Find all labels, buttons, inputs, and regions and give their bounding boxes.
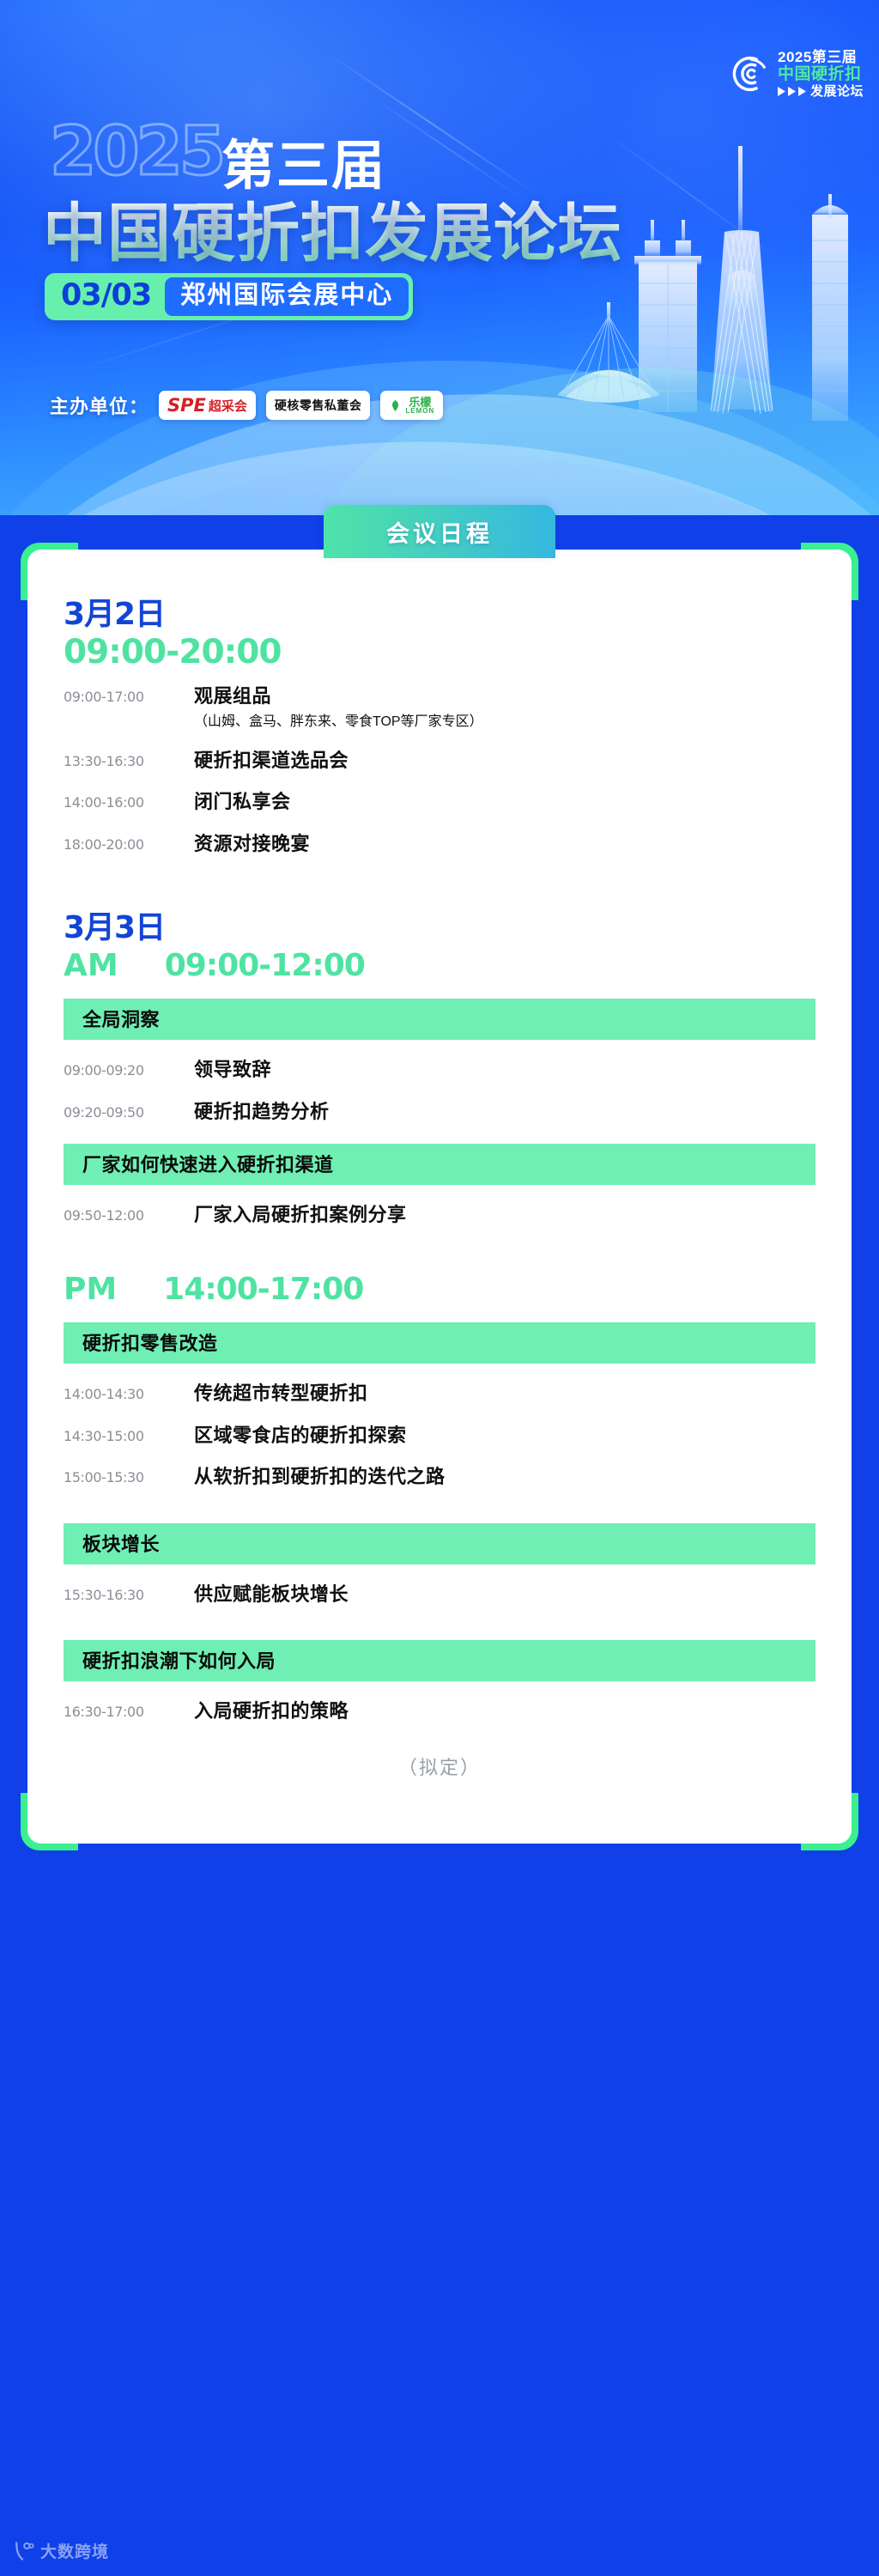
schedule-row: 09:50-12:00 厂家入局硬折扣案例分享 [64, 1190, 815, 1232]
page-title: 中国硬折扣发展论坛 [43, 182, 622, 274]
schedule-tab-label: 会议日程 [386, 515, 493, 549]
row-title: 硬折扣渠道选品会 [194, 749, 349, 774]
schedule-row: 14:30-15:00 区域零食店的硬折扣探索 [64, 1411, 815, 1453]
half-label-pm: PM [64, 1272, 117, 1307]
date-venue-badge: 03/03 郑州国际会展中心 [45, 273, 413, 320]
row-subtitle: （山姆、盒马、胖东来、零食TOP等厂家专区） [194, 714, 483, 732]
row-time: 18:00-20:00 [64, 832, 194, 853]
organizers-label: 主办单位： [50, 392, 149, 419]
row-time: 14:30-15:00 [64, 1424, 194, 1444]
schedule-row: 15:30-16:30 供应赋能板块增长 [64, 1570, 815, 1612]
logo-line-2: 中国硬折扣 [778, 66, 864, 82]
row-title: 区域零食店的硬折扣探索 [194, 1424, 407, 1449]
section-bar: 硬折扣零售改造 [64, 1322, 815, 1364]
hardcore-retail-label: 硬核零售私董会 [275, 397, 362, 414]
spe-mark: SPE [167, 395, 206, 416]
lemon-label-en: LEMON [405, 408, 434, 415]
section-bar: 厂家如何快速进入硬折扣渠道 [64, 1144, 815, 1185]
watermark: 大数跨境 [12, 2539, 109, 2562]
watermark-text: 大数跨境 [40, 2539, 109, 2562]
schedule-row: 14:00-14:30 传统超市转型硬折扣 [64, 1369, 815, 1411]
row-time: 15:00-15:30 [64, 1465, 194, 1485]
row-title: 传统超市转型硬折扣 [194, 1382, 368, 1406]
section-bar: 硬折扣浪潮下如何入局 [64, 1640, 815, 1681]
row-title-block: 观展组品 （山姆、盒马、胖东来、零食TOP等厂家专区） [194, 684, 483, 731]
section-bar: 全局洞察 [64, 999, 815, 1040]
day-date-mar2: 3月2日 [64, 598, 815, 632]
year-ghost-text: 2025 [50, 113, 222, 191]
logo-line-1: 2025第三届 [778, 50, 864, 64]
row-title: 入局硬折扣的策略 [194, 1699, 349, 1724]
schedule-row: 09:00-17:00 观展组品 （山姆、盒马、胖东来、零食TOP等厂家专区） [64, 671, 815, 735]
row-time: 14:00-14:30 [64, 1382, 194, 1402]
c-circle-logo-icon [731, 54, 771, 94]
half-header-pm: PM 14:00-17:00 [64, 1272, 815, 1307]
section-bar: 板块增长 [64, 1523, 815, 1564]
row-title: 观展组品 [194, 685, 271, 707]
half-label-am: AM [64, 948, 118, 983]
organizer-logo-spe: SPE 超采会 [159, 391, 256, 420]
logo-line-3: 发展论坛 [810, 85, 864, 98]
schedule-section: 会议日程 3月2日 09:00-20:00 09:00-17:00 观展组品 （… [27, 550, 852, 1844]
row-time: 14:00-16:00 [64, 790, 194, 811]
organizer-logo-lemon: 乐檬 LEMON [380, 391, 443, 420]
half-header-am: AM 09:00-12:00 [64, 948, 815, 983]
row-time: 09:00-17:00 [64, 684, 194, 705]
section-heading: 板块增长 [82, 1534, 160, 1555]
row-title: 硬折扣趋势分析 [194, 1100, 330, 1125]
schedule-row: 14:00-16:00 闭门私享会 [64, 777, 815, 819]
section-heading: 全局洞察 [82, 1009, 160, 1030]
schedule-row: 16:30-17:00 入局硬折扣的策略 [64, 1686, 815, 1728]
row-title: 供应赋能板块增长 [194, 1583, 349, 1607]
schedule-row: 09:20-09:50 硬折扣趋势分析 [64, 1087, 815, 1129]
row-time: 09:50-12:00 [64, 1203, 194, 1224]
spe-label: 超采会 [209, 397, 247, 415]
day-timerange-mar2: 09:00-20:00 [64, 634, 815, 672]
row-title: 从软折扣到硬折扣的迭代之路 [194, 1465, 446, 1490]
organizers-row: 主办单位： SPE 超采会 硬核零售私董会 乐檬 LEMON [50, 391, 443, 420]
row-time: 15:30-16:30 [64, 1583, 194, 1603]
row-title: 闭门私享会 [194, 790, 291, 815]
row-title: 资源对接晚宴 [194, 832, 310, 857]
tentative-note: （拟定） [64, 1753, 815, 1780]
row-time: 09:00-09:20 [64, 1058, 194, 1078]
row-title: 厂家入局硬折扣案例分享 [194, 1203, 407, 1228]
schedule-row: 18:00-20:00 资源对接晚宴 [64, 819, 815, 861]
schedule-card: 3月2日 09:00-20:00 09:00-17:00 观展组品 （山姆、盒马… [27, 550, 852, 1844]
section-heading: 硬折扣浪潮下如何入局 [82, 1650, 276, 1672]
triple-arrow-icon [778, 87, 807, 96]
dashu-logo-icon [12, 2540, 34, 2562]
event-venue: 郑州国际会展中心 [165, 277, 409, 316]
schedule-row: 13:30-16:30 硬折扣渠道选品会 [64, 736, 815, 778]
row-time: 13:30-16:30 [64, 749, 194, 769]
leaf-icon [389, 399, 402, 412]
row-title: 领导致辞 [194, 1058, 271, 1083]
half-timerange-pm: 14:00-17:00 [163, 1272, 363, 1307]
organizer-logo-hardcore-retail: 硬核零售私董会 [266, 391, 371, 420]
row-time: 09:20-09:50 [64, 1100, 194, 1121]
schedule-tab-header: 会议日程 [324, 505, 555, 558]
event-date: 03/03 [49, 277, 165, 316]
section-heading: 硬折扣零售改造 [82, 1333, 218, 1354]
lemon-label-cn: 乐檬 [409, 397, 431, 408]
hero-banner: 2025第三届 中国硬折扣 发展论坛 2025 第三届 中国硬折扣发展论坛 03… [0, 0, 879, 515]
day-date-mar3: 3月3日 [64, 911, 815, 945]
row-time: 16:30-17:00 [64, 1699, 194, 1720]
half-timerange-am: 09:00-12:00 [165, 948, 365, 983]
forum-logo: 2025第三届 中国硬折扣 发展论坛 [731, 50, 864, 98]
schedule-body: 3月2日 09:00-20:00 09:00-17:00 观展组品 （山姆、盒马… [27, 550, 852, 983]
schedule-row: 09:00-09:20 领导致辞 [64, 1045, 815, 1087]
section-heading: 厂家如何快速进入硬折扣渠道 [82, 1154, 334, 1176]
schedule-row: 15:00-15:30 从软折扣到硬折扣的迭代之路 [64, 1452, 815, 1494]
